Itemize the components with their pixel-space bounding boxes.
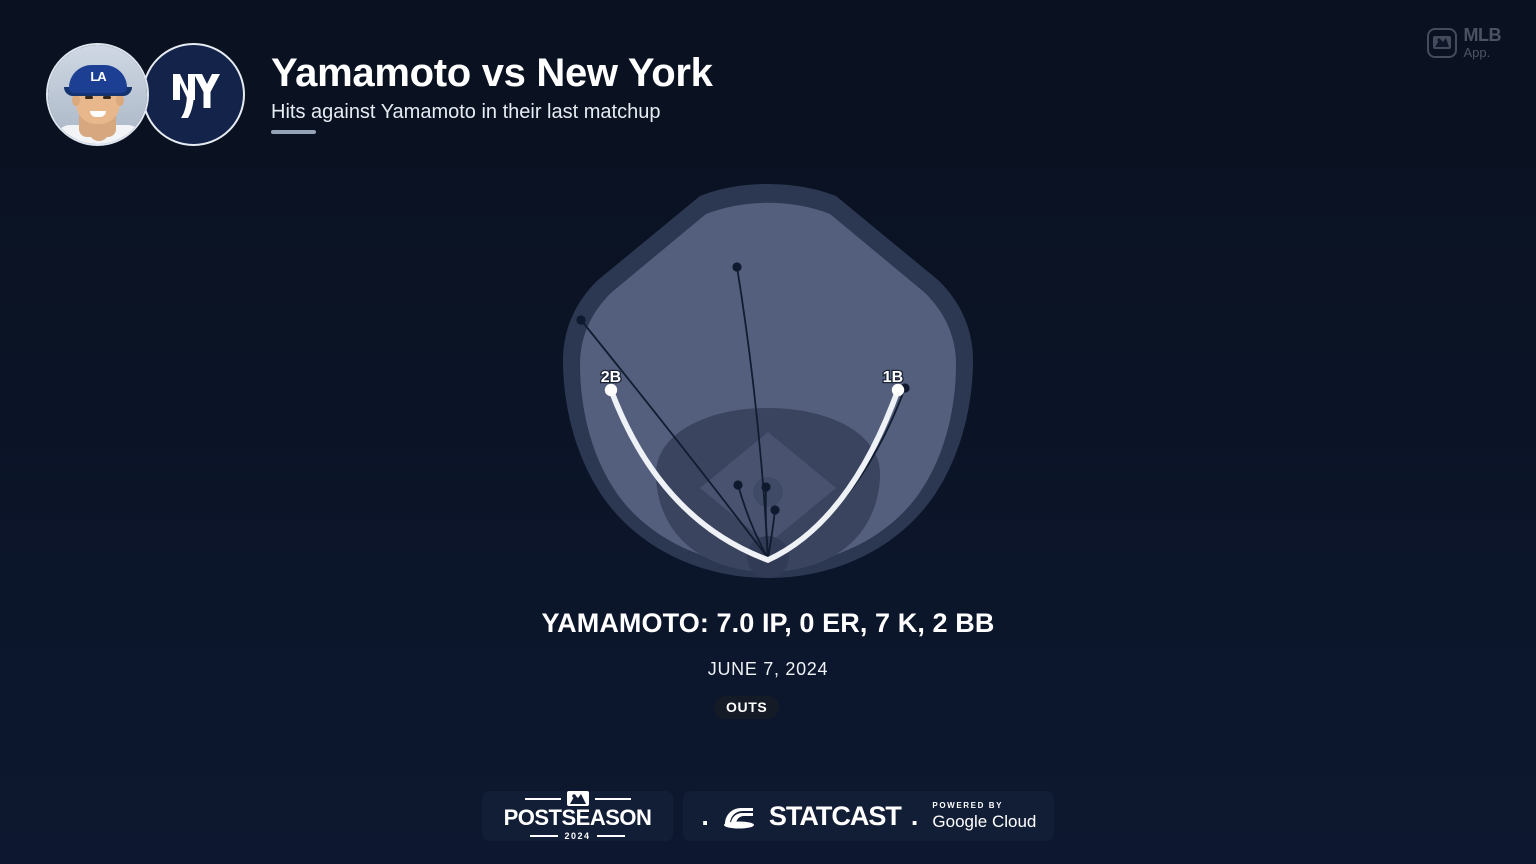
hit-label-single: 1B (883, 369, 903, 386)
postseason-word: POSTSEASON (504, 806, 652, 830)
game-date: JUNE 7, 2024 (0, 659, 1536, 680)
out-endpoint-infield-a (733, 480, 742, 489)
spray-chart: 2B 1B OUTS (0, 170, 1536, 600)
statcast-leading-dot: . (701, 803, 709, 830)
google-cloud-label: Google Cloud (932, 813, 1036, 830)
statcast-powered-by: POWERED BY Google Cloud (932, 802, 1036, 830)
matchup-avatars: LA (46, 43, 251, 146)
yankees-ny-icon (163, 64, 225, 126)
page-title: Yamamoto vs New York (271, 48, 713, 98)
pitchers-mound (753, 477, 783, 507)
yankees-logo-avatar (142, 43, 245, 146)
statcast-trailing-dot: . (911, 803, 919, 830)
baseball-field-diagram: 2B 1B (0, 170, 1536, 600)
title-accent-bar (271, 130, 316, 134)
dodgers-la-logo-icon: LA (90, 70, 106, 84)
player-headshot-avatar: LA (46, 43, 149, 146)
headshot-eye-left (85, 96, 93, 99)
mlb-app-wordmark: MLB App. (1464, 26, 1502, 59)
mlb-logo-icon (567, 791, 589, 806)
headshot-eye-right (103, 96, 111, 99)
out-endpoint-infield-b (761, 482, 770, 491)
statcast-badge: . STATCAST . POWERED BY Google Cloud (683, 791, 1054, 841)
out-endpoint-infield-c (770, 505, 779, 514)
postseason-rule-bottom-right (597, 835, 625, 837)
statcast-word: STATCAST (769, 803, 901, 830)
header: LA Yamamoto vs New York Hits against Yam… (0, 0, 1536, 165)
footer: POSTSEASON 2024 . STATCAST . POWERED BY … (0, 791, 1536, 841)
outs-badge: OUTS (714, 696, 779, 719)
hit-label-double: 2B (601, 369, 621, 386)
mlb-batter-glyph (1433, 36, 1451, 49)
postseason-badge: POSTSEASON 2024 (482, 791, 674, 841)
postseason-rule-right (595, 798, 631, 800)
out-endpoint-left-field (576, 315, 585, 324)
page-subtitle: Hits against Yamamoto in their last matc… (271, 99, 713, 125)
postseason-rule-left (525, 798, 561, 800)
postseason-year: 2024 (564, 831, 590, 841)
pitcher-statline: YAMAMOTO: 7.0 IP, 0 ER, 7 K, 2 BB (0, 608, 1536, 639)
statcast-radar-icon (719, 802, 759, 830)
title-block: Yamamoto vs New York Hits against Yamamo… (271, 48, 713, 134)
postseason-rule-bottom-left (530, 835, 558, 837)
out-endpoint-center-field (732, 262, 741, 271)
mlb-app-line2: App. (1464, 46, 1502, 59)
mlb-app-line1: MLB (1464, 26, 1502, 44)
infographic-canvas: LA Yamamoto vs New York Hits against Yam… (0, 0, 1536, 864)
powered-by-label: POWERED BY (932, 802, 1036, 810)
mlb-batter-icon (1427, 28, 1457, 58)
mlb-app-logo: MLB App. (1427, 26, 1502, 59)
